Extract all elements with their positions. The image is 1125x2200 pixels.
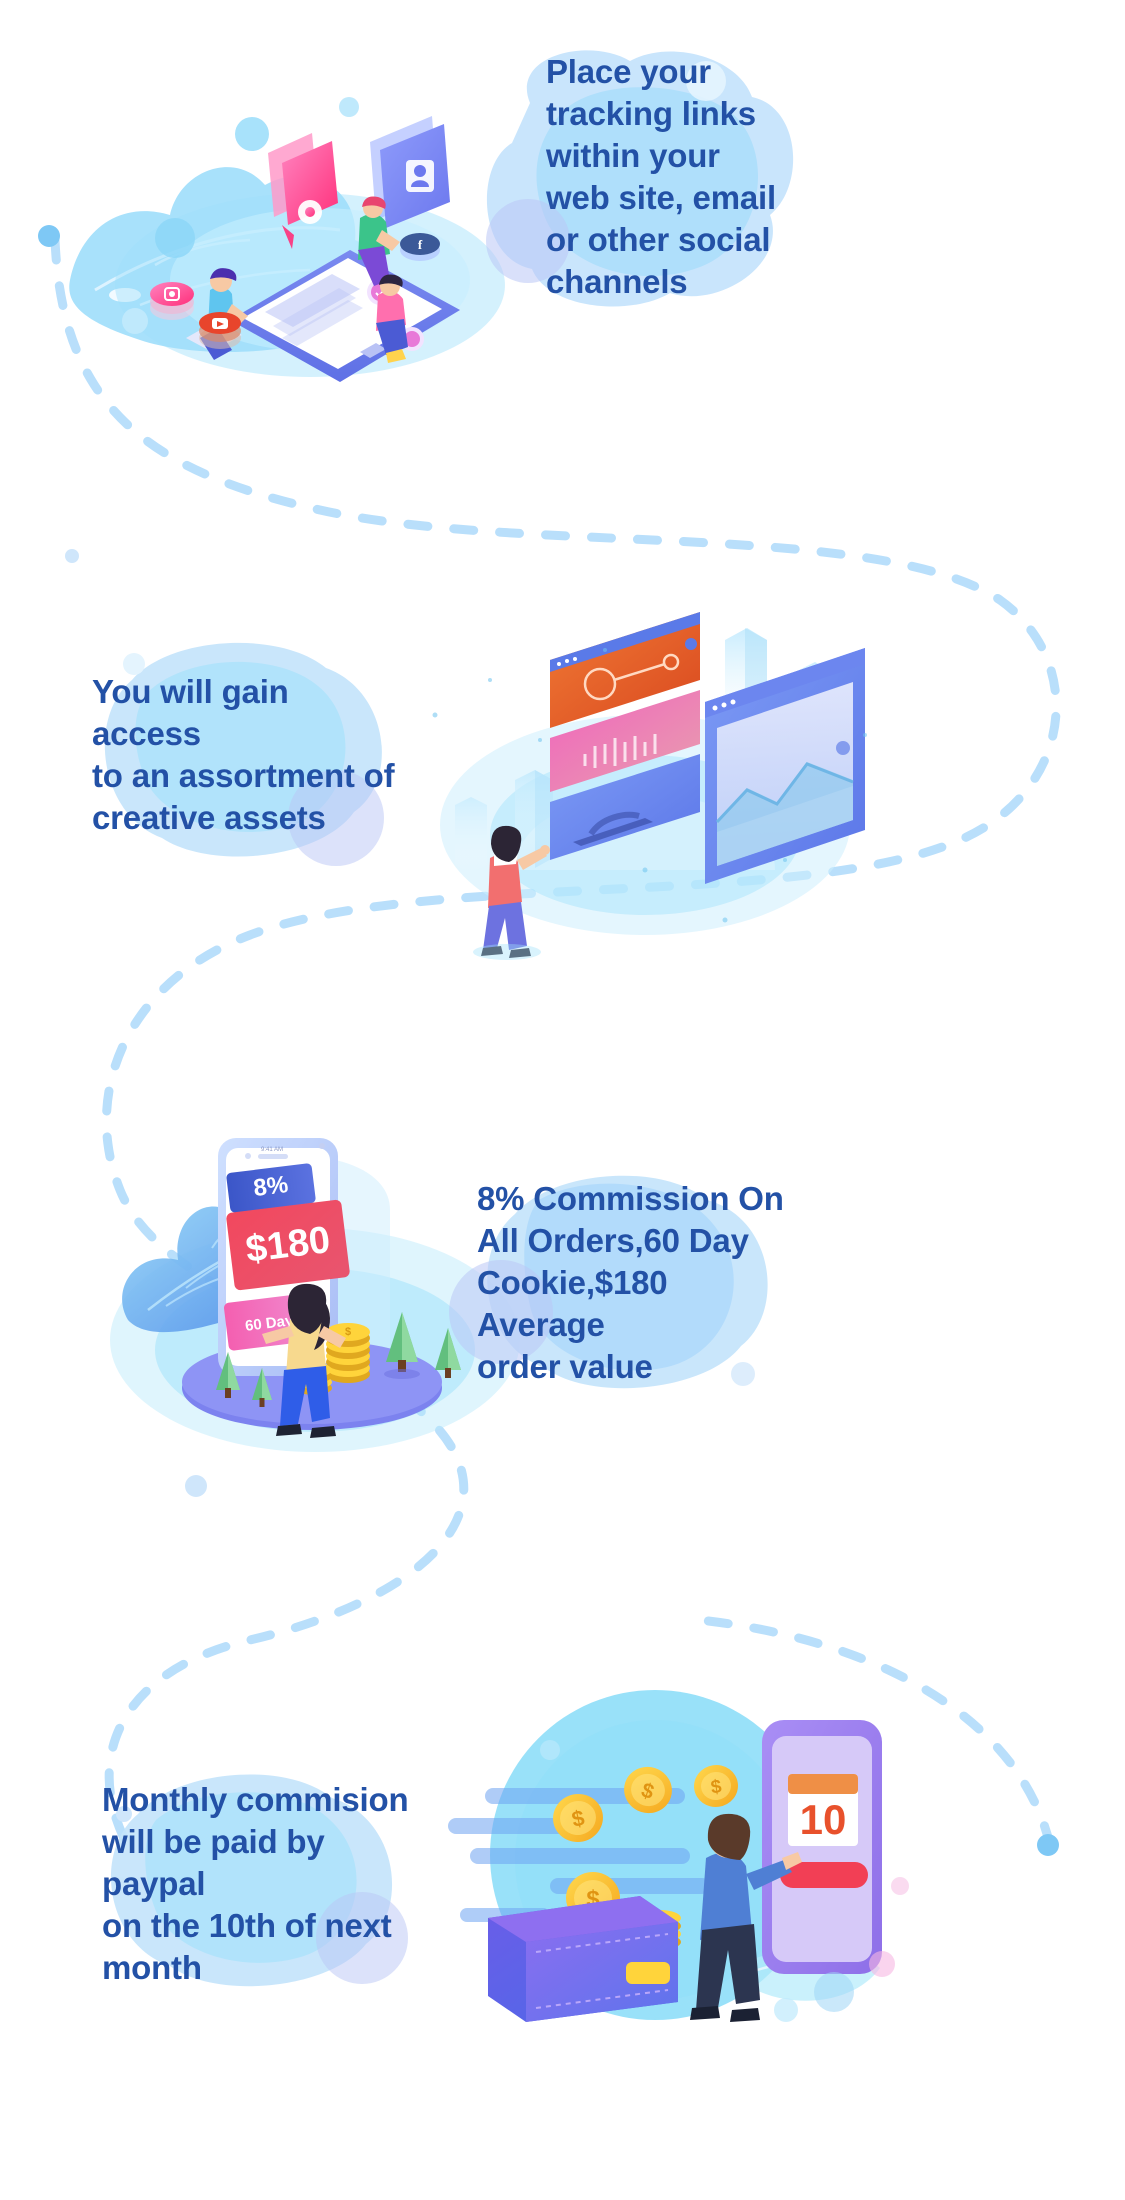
svg-text:f: f xyxy=(418,237,423,252)
youtube-badge xyxy=(199,312,241,349)
infographic-canvas: f Place your tracking links within your … xyxy=(0,0,1125,2200)
step-1-text: Place your tracking links within your we… xyxy=(546,51,776,303)
step-2-bubble: You will gain access to an assortment of… xyxy=(70,640,400,870)
step-4-text: Monthly commision will be paid by paypal… xyxy=(102,1779,410,1989)
bubble-dot-4 xyxy=(339,97,359,117)
calendar-card: 10 xyxy=(788,1774,858,1846)
creative-assets-illustration xyxy=(395,620,895,950)
step-1-bubble: Place your tracking links within your we… xyxy=(470,55,800,305)
payout-illustration: $ $ $ $ $ xyxy=(430,1690,930,2030)
dot-left-top xyxy=(38,225,60,247)
instagram-badge xyxy=(150,282,194,320)
phone-status-time: 9:41 AM xyxy=(261,1147,283,1153)
bubble-dot-1 xyxy=(155,218,195,258)
facebook-badge: f xyxy=(400,233,440,261)
dot-left-mid xyxy=(65,549,79,563)
bubble-dot-2 xyxy=(235,117,269,151)
calendar-day: 10 xyxy=(800,1796,847,1843)
wallet xyxy=(488,1896,678,2022)
step-3-text: 8% Commission On All Orders,60 Day Cooki… xyxy=(477,1178,785,1388)
step-3-bubble: 8% Commission On All Orders,60 Day Cooki… xyxy=(455,1170,785,1400)
bubble-dot-3 xyxy=(122,308,148,334)
dashed-path xyxy=(55,240,1056,1850)
step-4-bubble: Monthly commision will be paid by paypal… xyxy=(80,1770,410,2000)
svg-text:8%: 8% xyxy=(252,1171,290,1202)
smartphone: 10 xyxy=(762,1720,882,1974)
dot-mid xyxy=(185,1475,207,1497)
dot-right xyxy=(1037,1834,1059,1856)
average-order-card: $180 xyxy=(226,1199,351,1291)
step-2-text: You will gain access to an assortment of… xyxy=(92,671,400,839)
svg-text:$: $ xyxy=(345,1326,351,1338)
